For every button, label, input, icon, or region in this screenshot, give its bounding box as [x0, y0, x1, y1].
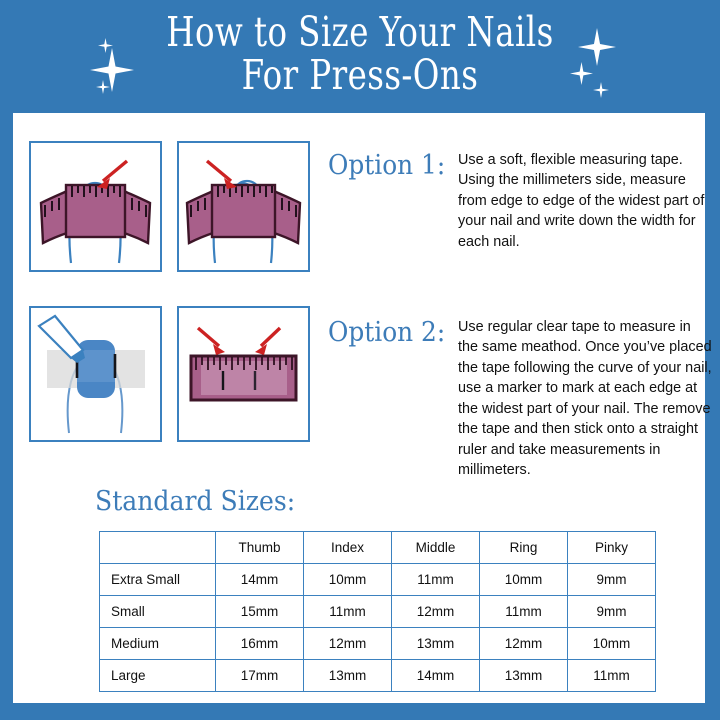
cell-medium-ring: 12mm — [480, 628, 568, 660]
table-row: Large 17mm 13mm 14mm 13mm 11mm — [100, 660, 656, 692]
table-header-index: Index — [304, 532, 392, 564]
cell-extra-small-index: 10mm — [304, 564, 392, 596]
row-label-large: Large — [100, 660, 216, 692]
cell-small-pinky: 9mm — [568, 596, 656, 628]
red-arrow-right-icon — [255, 328, 280, 355]
table-header-middle: Middle — [392, 532, 480, 564]
cell-large-thumb: 17mm — [216, 660, 304, 692]
cell-small-thumb: 15mm — [216, 596, 304, 628]
table-header-row: Thumb Index Middle Ring Pinky — [100, 532, 656, 564]
table-row: Small 15mm 11mm 12mm 11mm 9mm — [100, 596, 656, 628]
illustration-ruler-measurement — [177, 306, 310, 442]
page-title: How to Size Your Nails For Press-Ons — [0, 12, 720, 96]
option-1-text: Use a soft, flexible measuring tape. Usi… — [458, 150, 713, 252]
red-arrow-left-icon — [198, 328, 225, 355]
option-2-label: Option 2: — [328, 317, 448, 346]
cell-medium-pinky: 10mm — [568, 628, 656, 660]
table-row: Extra Small 14mm 10mm 11mm 10mm 9mm — [100, 564, 656, 596]
cell-extra-small-thumb: 14mm — [216, 564, 304, 596]
cell-extra-small-ring: 10mm — [480, 564, 568, 596]
cell-medium-middle: 13mm — [392, 628, 480, 660]
row-label-extra-small: Extra Small — [100, 564, 216, 596]
cell-medium-thumb: 16mm — [216, 628, 304, 660]
cell-large-index: 13mm — [304, 660, 392, 692]
option-2-text: Use regular clear tape to measure in the… — [458, 317, 713, 481]
table-header-pinky: Pinky — [568, 532, 656, 564]
cell-large-middle: 14mm — [392, 660, 480, 692]
option-1-label: Option 1: — [328, 150, 448, 179]
header-banner: How to Size Your Nails For Press-Ons — [0, 0, 720, 112]
illustration-clear-tape-marking — [29, 306, 162, 442]
cell-medium-index: 12mm — [304, 628, 392, 660]
cell-large-ring: 13mm — [480, 660, 568, 692]
illustration-measuring-tape-1 — [29, 141, 162, 272]
row-label-small: Small — [100, 596, 216, 628]
option-2-block: Option 2: Use regular clear tape to meas… — [328, 317, 713, 481]
table-corner-cell — [100, 532, 216, 564]
row-label-medium: Medium — [100, 628, 216, 660]
cell-small-middle: 12mm — [392, 596, 480, 628]
cell-large-pinky: 11mm — [568, 660, 656, 692]
table-header-thumb: Thumb — [216, 532, 304, 564]
content-panel: Option 1: Use a soft, flexible measuring… — [13, 113, 705, 703]
option-1-block: Option 1: Use a soft, flexible measuring… — [328, 150, 713, 252]
table-row: Medium 16mm 12mm 13mm 12mm 10mm — [100, 628, 656, 660]
cell-small-index: 11mm — [304, 596, 392, 628]
cell-extra-small-pinky: 9mm — [568, 564, 656, 596]
table-header-ring: Ring — [480, 532, 568, 564]
cell-small-ring: 11mm — [480, 596, 568, 628]
cell-extra-small-middle: 11mm — [392, 564, 480, 596]
infographic-page: How to Size Your Nails For Press-Ons — [0, 0, 720, 720]
standard-sizes-heading: Standard Sizes: — [95, 488, 295, 515]
standard-sizes-table: Thumb Index Middle Ring Pinky Extra Smal… — [99, 531, 656, 692]
illustration-measuring-tape-2 — [177, 141, 310, 272]
